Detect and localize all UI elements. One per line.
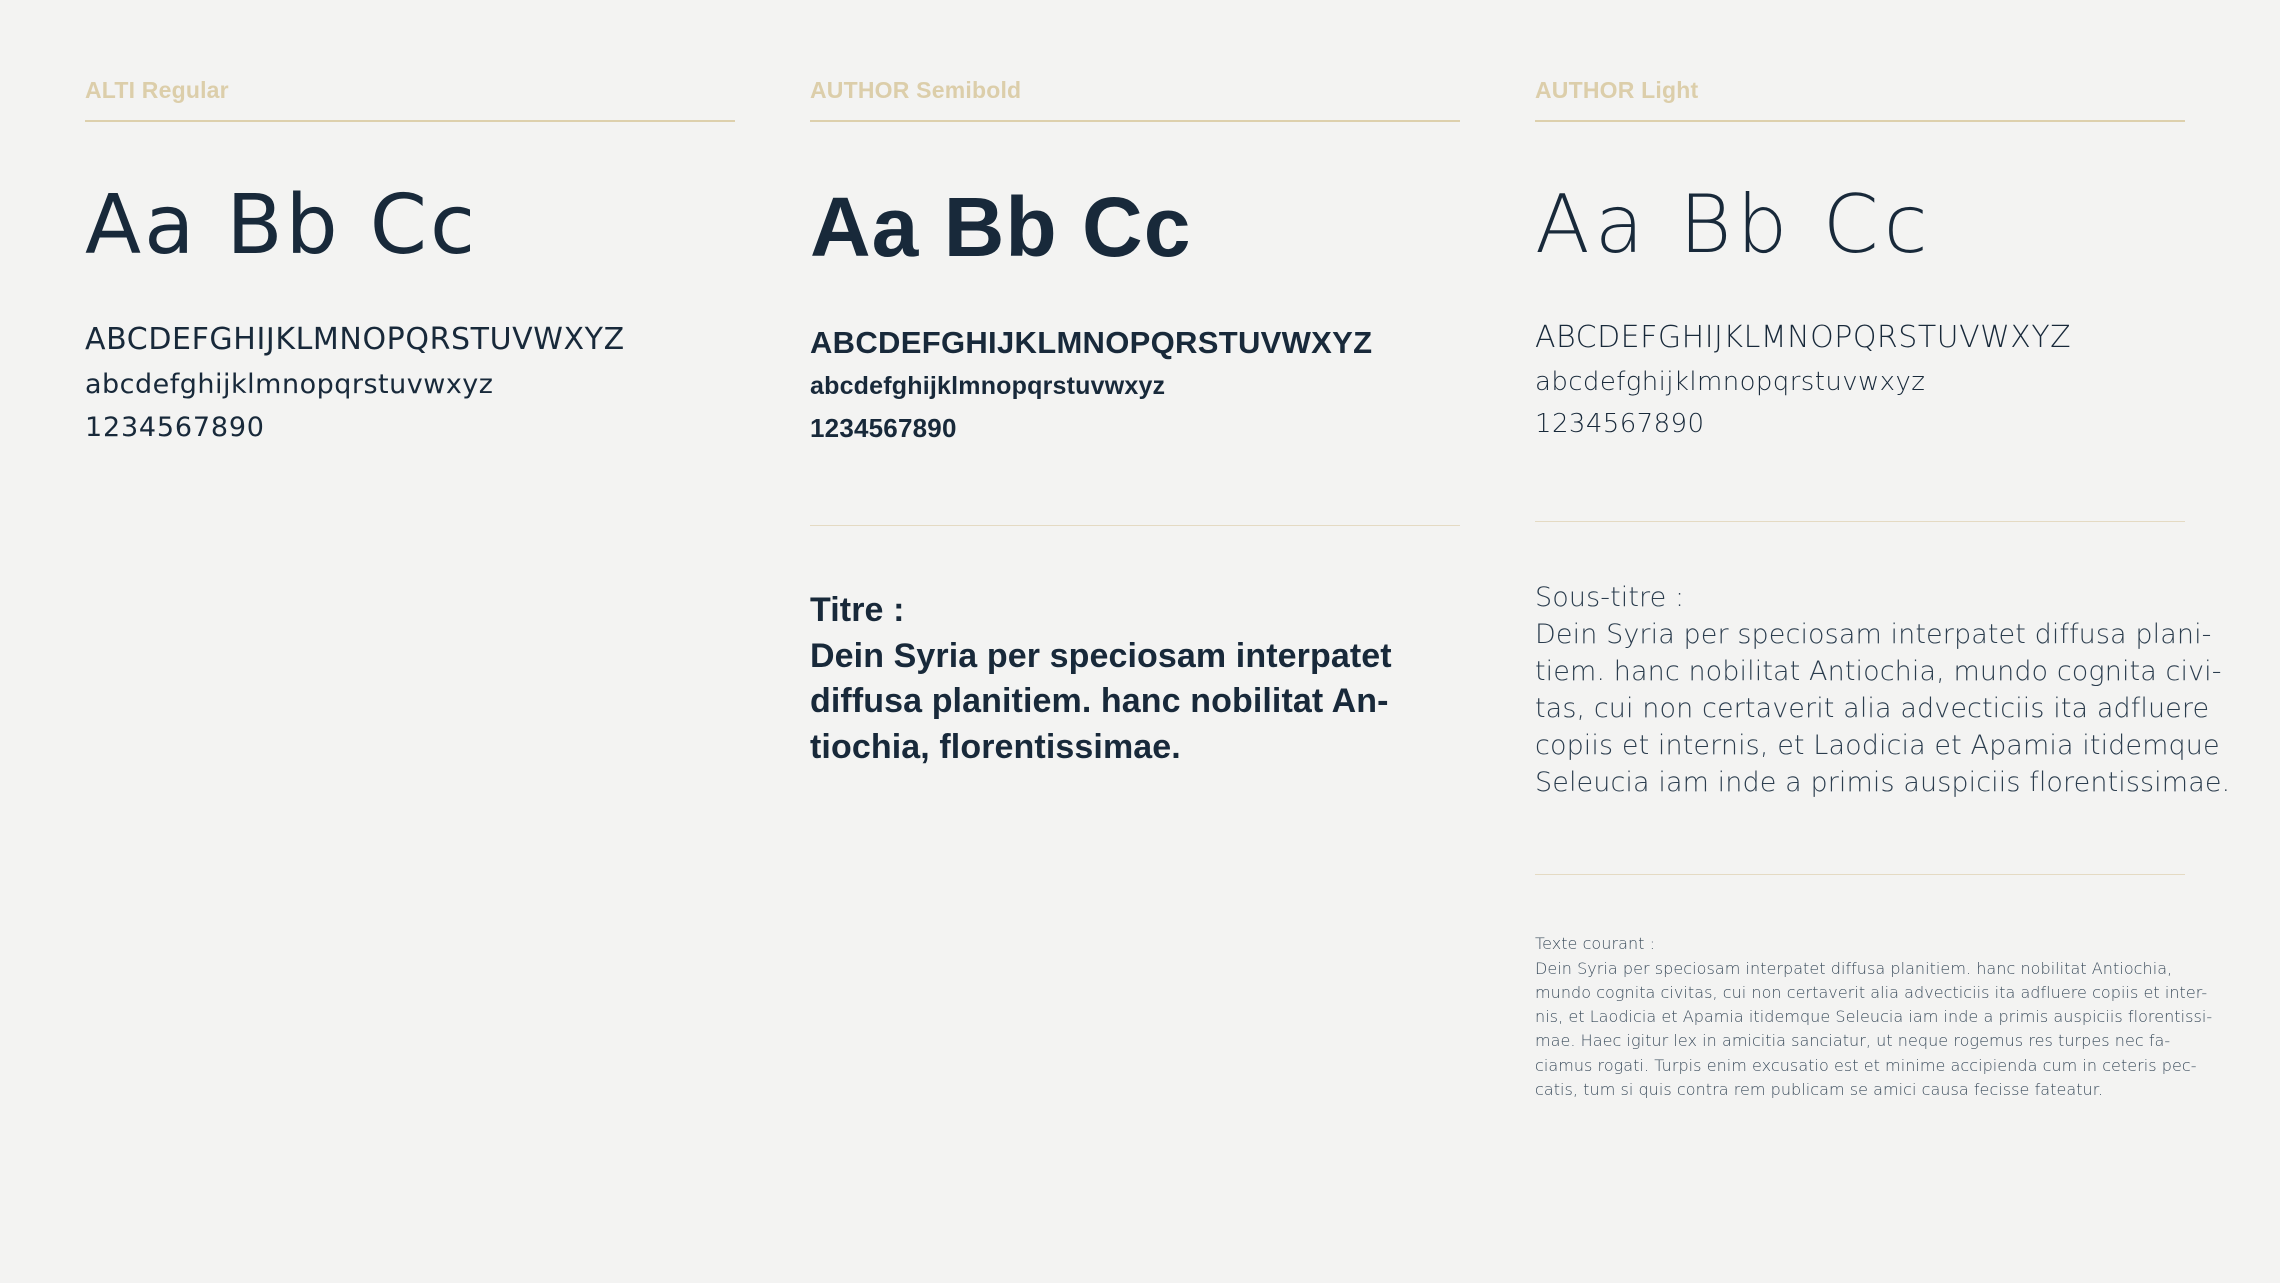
titre-sample-block: Titre : Dein Syria per speciosam interpa… (810, 588, 1460, 770)
specimen-display-author-light: Aa Bb Cc (1535, 185, 2185, 265)
titre-line-1: Dein Syria per speciosam interpatet (810, 634, 1460, 680)
sous-titre-line-2: tiem. hanc nobilitat Antiochia, mundo co… (1535, 654, 2185, 691)
font-column-author-light: AUTHOR Light Aa Bb Cc ABCDEFGHIJKLMNOPQR… (1535, 78, 2185, 1283)
alphabet-digits-light: 1234567890 (1535, 411, 2185, 437)
texte-courant-line-6: catis, tum si quis contra rem publicam s… (1535, 1078, 2185, 1102)
specimen-display-author-semibold: Aa Bb Cc (810, 185, 1460, 269)
sous-titre-sample-block: Sous-titre : Dein Syria per speciosam in… (1535, 580, 2185, 802)
alphabet-block-author-light: ABCDEFGHIJKLMNOPQRSTUVWXYZ abcdefghijklm… (1535, 323, 2185, 437)
texte-courant-line-5: ciamus rogati. Turpis enim excusatio est… (1535, 1054, 2185, 1078)
heading-rule-column-1 (85, 120, 735, 122)
alphabet-uppercase-alti: ABCDEFGHIJKLMNOPQRSTUVWXYZ (85, 325, 735, 355)
texte-courant-line-4: mae. Haec igitur lex in amicitia sanciat… (1535, 1029, 2185, 1053)
texte-courant-line-3: nis, et Laodicia et Apamia itidemque Sel… (1535, 1005, 2185, 1029)
section-divider-column-2 (810, 525, 1460, 526)
alphabet-lowercase-semibold: abcdefghijklmnopqrstuvwxyz (810, 374, 1460, 399)
typography-specimen-sheet: ALTI Regular Aa Bb Cc ABCDEFGHIJKLMNOPQR… (0, 0, 2280, 1283)
specimen-display-alti-regular: Aa Bb Cc (85, 185, 735, 267)
texte-courant-line-2: mundo cognita civitas, cui non certaveri… (1535, 981, 2185, 1005)
sous-titre-label: Sous-titre : (1535, 580, 2185, 617)
sous-titre-line-1: Dein Syria per speciosam interpatet diff… (1535, 617, 2185, 654)
column-heading-author-light: AUTHOR Light (1535, 78, 2185, 103)
sous-titre-line-5: Seleucia iam inde a primis auspiciis flo… (1535, 765, 2185, 802)
texte-courant-label: Texte courant : (1535, 932, 2185, 956)
titre-line-3: tiochia, florentissimae. (810, 725, 1460, 771)
alphabet-block-author-semibold: ABCDEFGHIJKLMNOPQRSTUVWXYZ abcdefghijklm… (810, 327, 1460, 441)
alphabet-block-alti-regular: ABCDEFGHIJKLMNOPQRSTUVWXYZ abcdefghijklm… (85, 325, 735, 441)
texte-courant-line-1: Dein Syria per speciosam interpatet diff… (1535, 957, 2185, 981)
heading-rule-column-3 (1535, 120, 2185, 122)
section-divider-column-3-lower (1535, 874, 2185, 875)
column-heading-alti-regular: ALTI Regular (85, 78, 735, 103)
alphabet-uppercase-light: ABCDEFGHIJKLMNOPQRSTUVWXYZ (1535, 323, 2185, 353)
sous-titre-line-3: tas, cui non certaverit alia advecticiis… (1535, 691, 2185, 728)
column-heading-author-semibold: AUTHOR Semibold (810, 78, 1460, 103)
section-divider-column-3-upper (1535, 521, 2185, 522)
titre-line-2: diffusa planitiem. hanc nobilitat An- (810, 679, 1460, 725)
alphabet-digits-alti: 1234567890 (85, 414, 735, 441)
alphabet-lowercase-light: abcdefghijklmnopqrstuvwxyz (1535, 369, 2185, 395)
alphabet-digits-semibold: 1234567890 (810, 415, 1460, 441)
alphabet-lowercase-alti: abcdefghijklmnopqrstuvwxyz (85, 371, 735, 398)
sous-titre-line-4: copiis et internis, et Laodicia et Apami… (1535, 728, 2185, 765)
texte-courant-sample-block: Texte courant : Dein Syria per speciosam… (1535, 932, 2185, 1102)
alphabet-uppercase-semibold: ABCDEFGHIJKLMNOPQRSTUVWXYZ (810, 327, 1460, 358)
titre-label: Titre : (810, 588, 1460, 634)
font-column-alti-regular: ALTI Regular Aa Bb Cc ABCDEFGHIJKLMNOPQR… (85, 78, 735, 1283)
font-column-author-semibold: AUTHOR Semibold Aa Bb Cc ABCDEFGHIJKLMNO… (810, 78, 1460, 1283)
heading-rule-column-2 (810, 120, 1460, 122)
